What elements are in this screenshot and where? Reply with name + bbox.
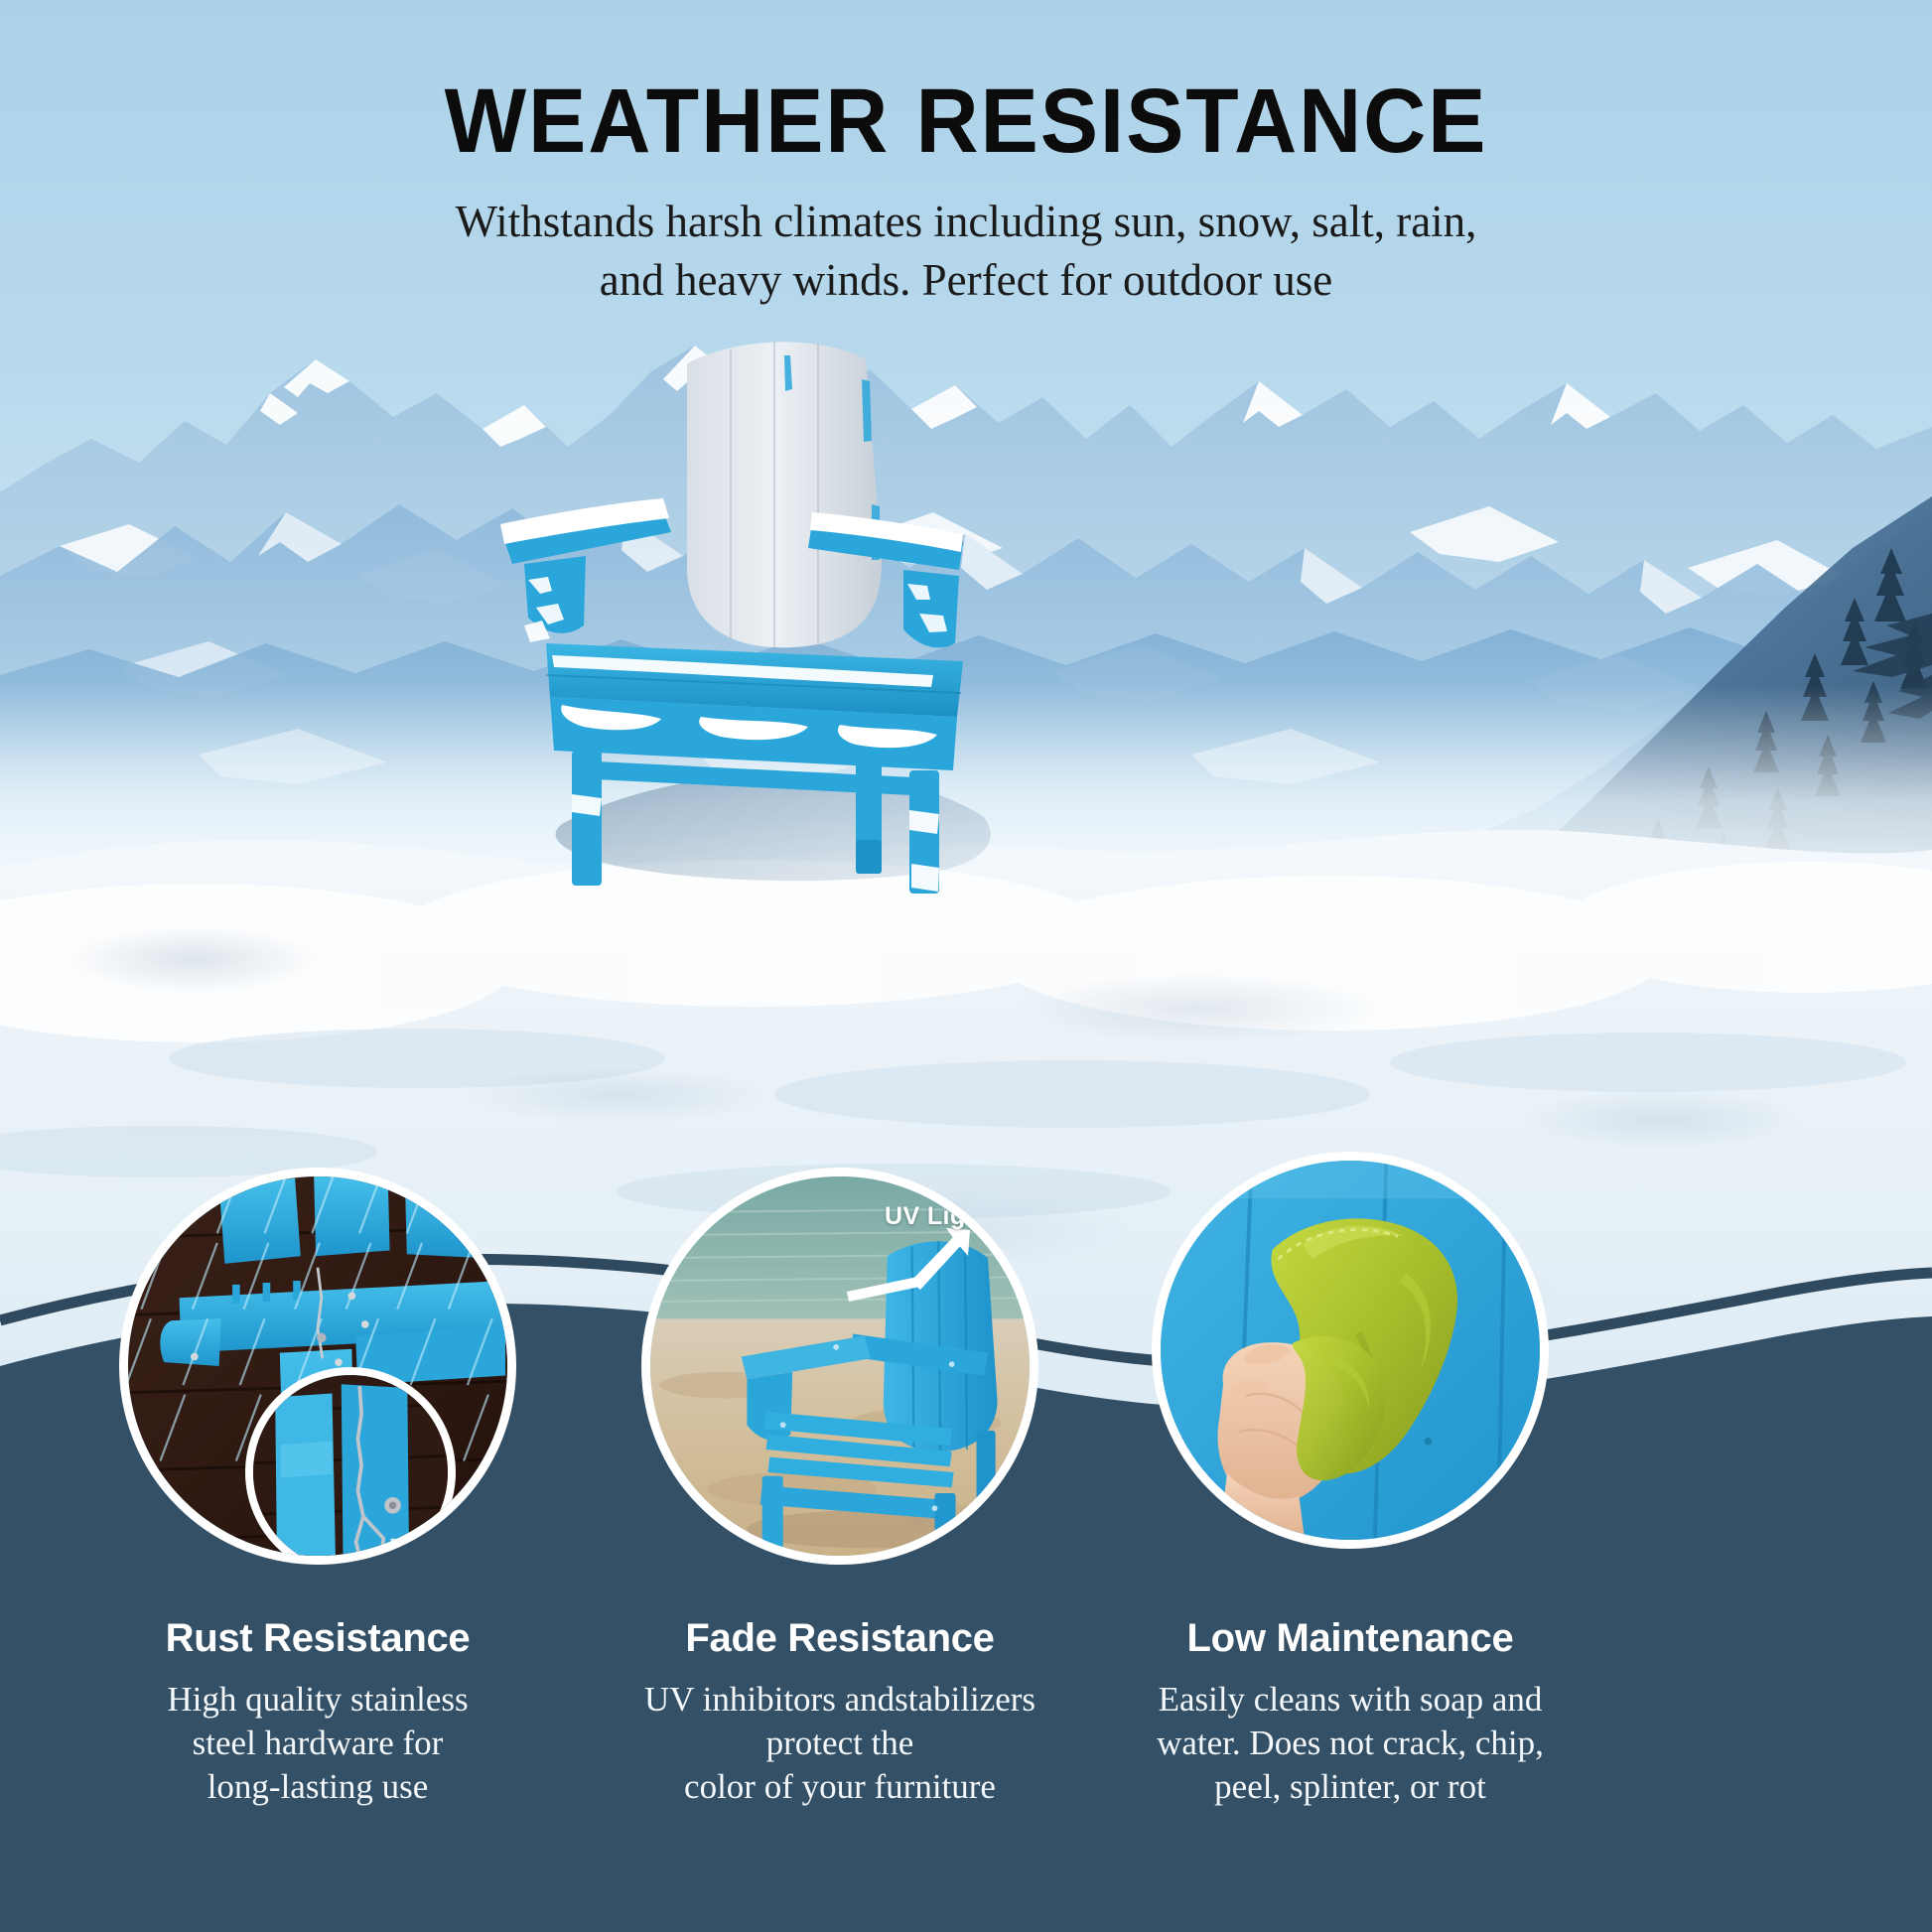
feature-description: High quality stainless steel hardware fo… (119, 1678, 516, 1809)
feature-description: Easily cleans with soap and water. Does … (1152, 1678, 1549, 1809)
feature-desc-line-3: peel, splinter, or rot (1152, 1765, 1549, 1809)
feature-text-rust-resistance: Rust Resistance High quality stainless s… (119, 1616, 516, 1809)
feature-desc-line-3: color of your furniture (641, 1765, 1038, 1809)
feature-desc-line-1: High quality stainless (119, 1678, 516, 1722)
page-title: WEATHER RESISTANCE (49, 75, 1884, 167)
feature-image-rust-resistance[interactable] (119, 1168, 516, 1565)
uv-light-arrow-icon (845, 1228, 974, 1319)
feature-heading: Rust Resistance (119, 1616, 516, 1660)
feature-image-low-maintenance[interactable] (1152, 1152, 1549, 1549)
feature-desc-line-1: UV inhibitors andstabilizers (641, 1678, 1038, 1722)
feature-description: UV inhibitors andstabilizers protect the… (641, 1678, 1038, 1809)
page-subtitle: Withstands harsh climates including sun,… (0, 193, 1932, 309)
feature-desc-line-3: long-lasting use (119, 1765, 516, 1809)
subtitle-line-2: and heavy winds. Perfect for outdoor use (0, 251, 1932, 310)
feature-text-fade-resistance: Fade Resistance UV inhibitors andstabili… (641, 1616, 1038, 1809)
feature-desc-line-1: Easily cleans with soap and (1152, 1678, 1549, 1722)
feature-heading: Low Maintenance (1152, 1616, 1549, 1660)
feature-heading: Fade Resistance (641, 1616, 1038, 1660)
feature-desc-line-2: water. Does not crack, chip, (1152, 1722, 1549, 1765)
header-block: WEATHER RESISTANCE Withstands harsh clim… (0, 75, 1932, 309)
hero-snow-covered-chair (467, 328, 1082, 923)
weather-resistance-infographic: WEATHER RESISTANCE Withstands harsh clim… (0, 0, 1932, 1932)
feature-image-fade-resistance[interactable]: UV Light (641, 1168, 1038, 1565)
subtitle-line-1: Withstands harsh climates including sun,… (0, 193, 1932, 251)
feature-fade-resistance: UV Light Fade Resistance UV inhibitors a… (641, 1168, 1038, 1809)
feature-desc-line-2: protect the (641, 1722, 1038, 1765)
feature-text-low-maintenance: Low Maintenance Easily cleans with soap … (1152, 1616, 1549, 1809)
uv-light-label: UV Light (885, 1202, 990, 1231)
feature-rust-resistance: Rust Resistance High quality stainless s… (119, 1168, 516, 1809)
feature-desc-line-2: steel hardware for (119, 1722, 516, 1765)
inset-chain-detail[interactable] (245, 1367, 456, 1565)
feature-low-maintenance: Low Maintenance Easily cleans with soap … (1152, 1152, 1549, 1809)
